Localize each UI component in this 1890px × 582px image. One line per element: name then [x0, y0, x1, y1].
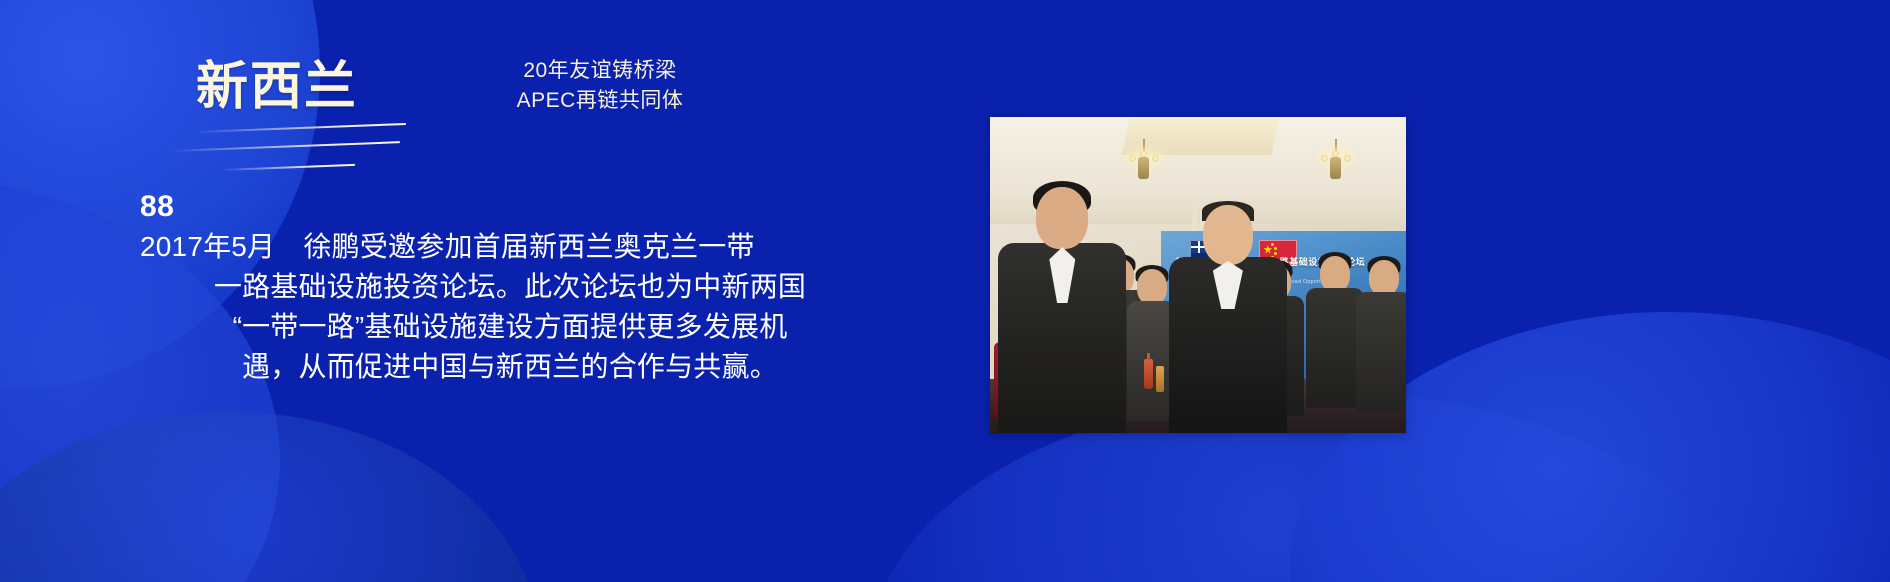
subtitle-line-1: 20年友谊铸桥梁: [420, 56, 780, 86]
chandelier-icon-left: [1127, 139, 1161, 185]
photo-person-foreground-left: [998, 181, 1126, 433]
body-paragraph: 2017年5月 徐鹏受邀参加首届新西兰奥克兰一带 一路基础设施投资论坛。此次论坛…: [140, 227, 880, 387]
presentation-slide: 新西兰 20年友谊铸桥梁 APEC再链共同体 88 2017年5月 徐鹏受邀参加…: [0, 0, 1890, 582]
photo-person-foreground-right: [1169, 197, 1287, 433]
decoration-line-3: [220, 164, 355, 171]
body-block: 88 2017年5月 徐鹏受邀参加首届新西兰奥克兰一带 一路基础设施投资论坛。此…: [140, 190, 880, 387]
photo-bottle-1: [1144, 359, 1153, 389]
subtitle-line-2: APEC再链共同体: [420, 86, 780, 116]
item-number: 88: [140, 190, 880, 223]
chandelier-icon-right: [1319, 139, 1353, 185]
title-decoration-lines: [160, 128, 460, 174]
paragraph-line-2: 一路基础设施投资论坛。此次论坛也为中新两国: [140, 267, 880, 307]
subtitle-block: 20年友谊铸桥梁 APEC再链共同体: [420, 56, 780, 116]
paragraph-line-4: 遇，从而促进中国与新西兰的合作与共赢。: [140, 347, 880, 387]
paragraph-line-1: 2017年5月 徐鹏受邀参加首届新西兰奥克兰一带: [140, 227, 880, 267]
paragraph-line-3: “一带一路”基础设施建设方面提供更多发展机: [140, 307, 880, 347]
photo-person-background-6: [1356, 260, 1406, 408]
event-photo: 首届新西兰奥克兰一带一路基础设施投资论坛 Inaugural Auckland …: [990, 117, 1406, 433]
photo-bottle-2: [1156, 366, 1164, 392]
decoration-line-2: [170, 141, 400, 152]
